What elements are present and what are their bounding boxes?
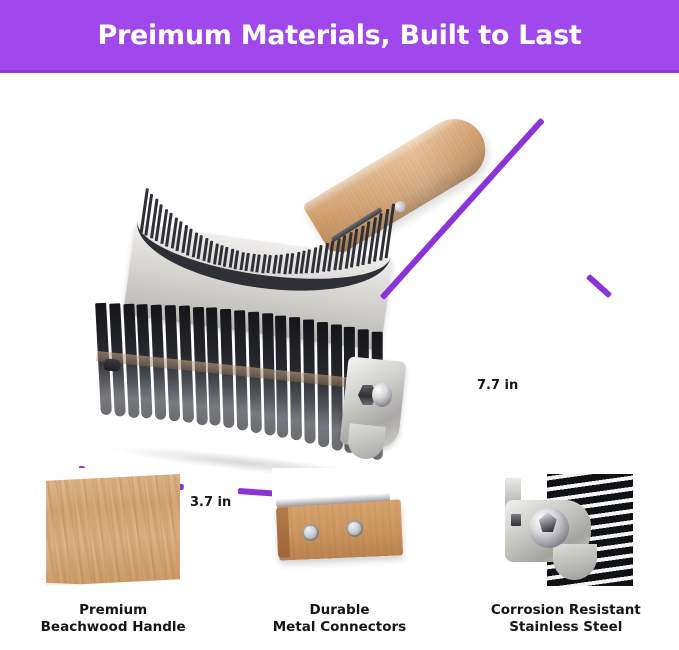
caption-line-2: Beachwood Handle (41, 619, 186, 636)
product-hero-image: 7.7 in 3.7 in (0, 73, 679, 468)
handle-end-side-face (276, 507, 290, 557)
feature-card-stainless-steel: Corrosion Resistant Stainless Steel (453, 468, 679, 650)
page-title: Preimum Materials, Built to Last (98, 20, 582, 51)
screw-head (372, 383, 392, 407)
feature-caption-beachwood-handle: Premium Beachwood Handle (41, 602, 186, 636)
wood-grain-surface (46, 474, 180, 586)
bracket-screw (358, 383, 392, 407)
height-dimension-label: 7.7 in (477, 378, 518, 393)
thumbnail-metal-connectors (272, 468, 406, 590)
caption-line-1: Premium (41, 602, 186, 619)
feature-card-metal-connectors: Durable Metal Connectors (226, 468, 452, 650)
thumbnail-stainless-steel (499, 468, 633, 590)
feature-caption-metal-connectors: Durable Metal Connectors (273, 602, 406, 636)
thumbnail-wood-grain (46, 468, 180, 590)
handle-end-block (277, 499, 403, 560)
feature-card-beachwood-handle: Premium Beachwood Handle (0, 468, 226, 650)
caption-line-1: Corrosion Resistant (491, 602, 641, 619)
caption-line-2: Stainless Steel (491, 619, 641, 636)
header-banner: Preimum Materials, Built to Last (0, 0, 679, 73)
caption-line-1: Durable (273, 602, 406, 619)
steel-closeup (499, 474, 633, 586)
handle-stud (393, 199, 408, 214)
feature-caption-stainless-steel: Corrosion Resistant Stainless Steel (491, 602, 641, 636)
feature-cards: Premium Beachwood Handle Durable Metal C… (0, 468, 679, 650)
caption-line-2: Metal Connectors (273, 619, 406, 636)
left-end-nub (103, 358, 120, 372)
steel-stamp-mark (511, 514, 521, 526)
height-dimension-cap-top (586, 274, 612, 299)
